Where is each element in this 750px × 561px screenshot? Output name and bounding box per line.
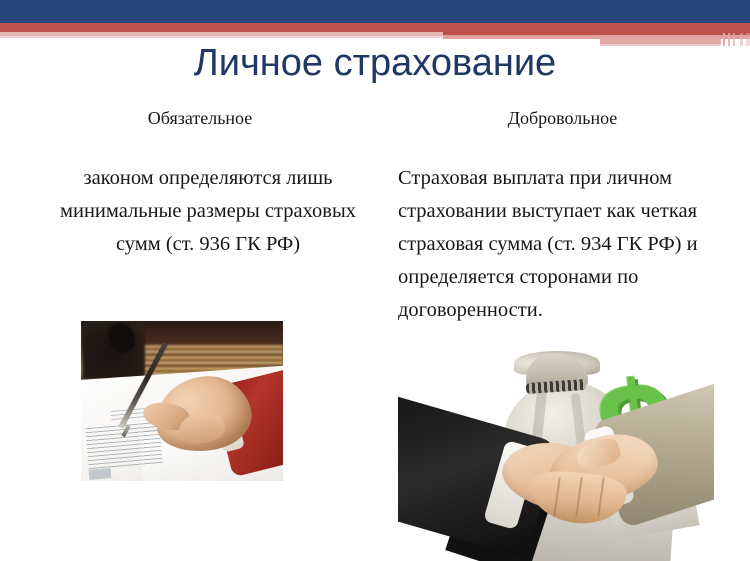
signing-document-image-inner [81, 321, 283, 481]
column-heading-voluntary: Добровольное [395, 108, 730, 129]
banner-tick-accent-4 [740, 0, 743, 46]
handshake-money-image: $ [398, 345, 714, 561]
column-body-obligatory: законом определяются лишь минимальные ра… [38, 162, 378, 261]
column-heading-obligatory: Обязательное [30, 108, 370, 129]
banner-tick-accent-3 [733, 0, 735, 46]
banner-tick-accent-1 [723, 0, 725, 46]
signing-paper-stamp [89, 468, 112, 480]
banner-tick-accent-5 [746, 0, 750, 46]
banner-tick-accent-2 [728, 0, 730, 46]
column-body-voluntary: Страховая выплата при личном страховании… [398, 162, 716, 327]
signing-document-image [72, 317, 283, 487]
banner-blue-band [0, 0, 750, 23]
banner-red-band [0, 23, 750, 32]
banner-pink-line-2 [0, 36, 444, 38]
slide-title: Личное страхование [0, 42, 750, 85]
